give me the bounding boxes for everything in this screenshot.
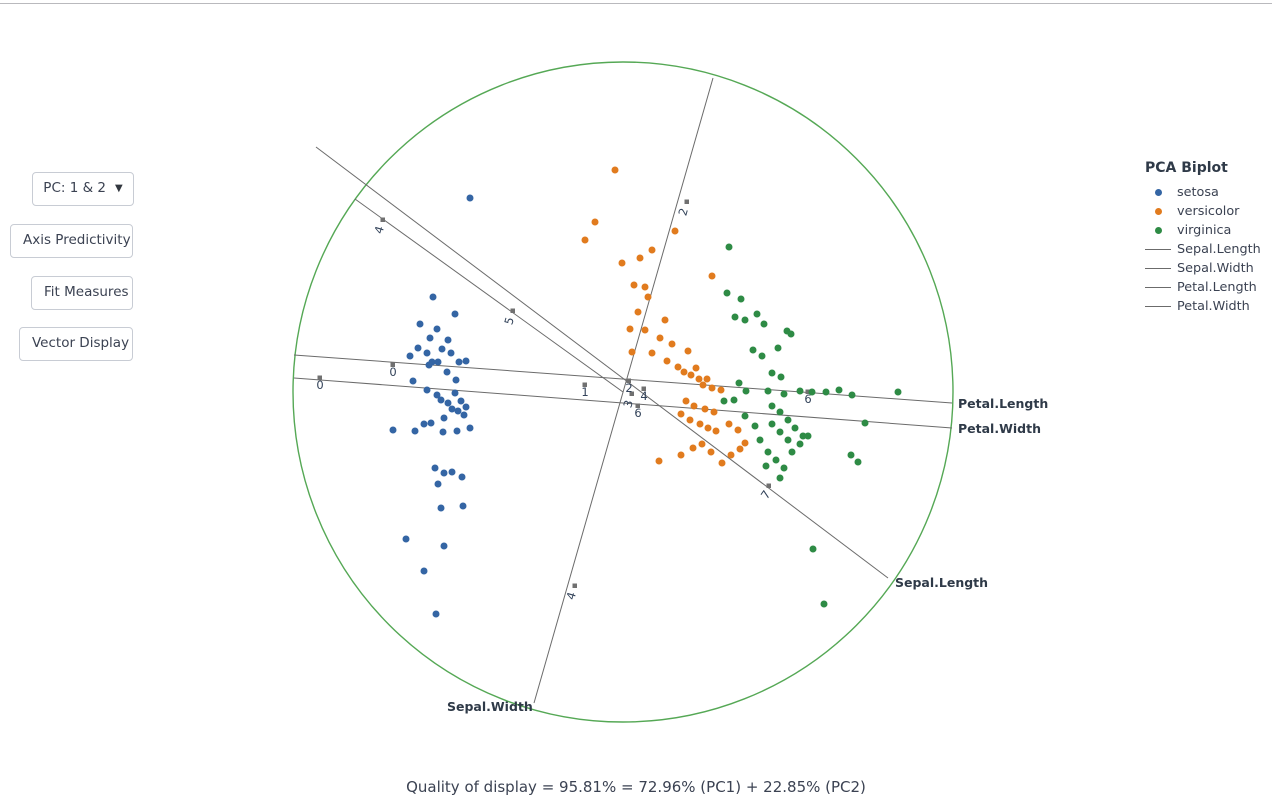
axis-tick-label: 4 [563,590,578,601]
data-point-setosa[interactable] [390,427,397,434]
points-setosa [390,195,474,618]
data-point-virginica[interactable] [785,437,792,444]
data-point-virginica[interactable] [769,403,776,410]
data-point-virginica[interactable] [848,452,855,459]
data-point-versicolor[interactable] [612,167,619,174]
legend-item-sepal-length[interactable]: Sepal.Length [1143,240,1271,259]
data-point-setosa[interactable] [407,353,414,360]
data-point-versicolor[interactable] [629,349,636,356]
data-point-versicolor[interactable] [635,309,642,316]
data-point-versicolor[interactable] [718,387,725,394]
data-point-setosa[interactable] [441,543,448,550]
data-point-versicolor[interactable] [662,317,669,324]
legend: PCA Biplot setosaversicolorvirginica Sep… [1143,160,1271,316]
data-point-versicolor[interactable] [675,364,682,371]
legend-item-label: versicolor [1177,204,1239,219]
data-point-virginica[interactable] [778,374,785,381]
data-point-setosa[interactable] [435,359,442,366]
data-point-setosa[interactable] [444,369,451,376]
data-point-setosa[interactable] [459,474,466,481]
data-point-versicolor[interactable] [693,365,700,372]
data-point-setosa[interactable] [448,350,455,357]
legend-group-entries: setosaversicolorvirginica [1143,183,1271,240]
legend-dot-swatch-icon [1143,208,1173,215]
data-point-virginica[interactable] [732,314,739,321]
data-point-setosa[interactable] [424,350,431,357]
axis-tick-label: 5 [501,315,516,326]
data-point-setosa[interactable] [458,398,465,405]
data-point-virginica[interactable] [789,449,796,456]
quality-of-display-caption: Quality of display = 95.81% = 72.96% (PC… [0,778,1272,795]
legend-item-sepal-width[interactable]: Sepal.Width [1143,259,1271,278]
data-point-versicolor[interactable] [649,350,656,357]
data-point-virginica[interactable] [742,413,749,420]
dot-marker [1155,227,1162,234]
data-point-virginica[interactable] [823,389,830,396]
biplot-axis-calibration-axis-upper-left[interactable] [355,199,623,392]
data-point-virginica[interactable] [855,459,862,466]
legend-line-swatch-icon [1143,249,1173,250]
data-point-virginica[interactable] [754,311,761,318]
data-point-virginica[interactable] [777,409,784,416]
data-point-versicolor[interactable] [700,382,707,389]
data-point-virginica[interactable] [731,397,738,404]
data-point-virginica[interactable] [788,331,795,338]
axis-tick-label: 2 [675,206,690,217]
data-point-virginica[interactable] [862,420,869,427]
data-point-setosa[interactable] [410,378,417,385]
axis-tick-marker [573,584,578,589]
data-point-versicolor[interactable] [705,425,712,432]
axis-lines-group [294,78,952,703]
legend-title: PCA Biplot [1145,160,1271,176]
data-point-setosa[interactable] [445,400,452,407]
axis-tick-label: 0 [389,365,396,379]
legend-item-label: virginica [1177,223,1231,238]
data-point-setosa[interactable] [449,469,456,476]
data-point-virginica[interactable] [821,601,828,608]
axis-tick-label: 6 [634,406,641,420]
data-point-virginica[interactable] [792,425,799,432]
legend-item-label: Petal.Width [1177,299,1250,314]
data-point-versicolor[interactable] [672,228,679,235]
legend-line-swatch-icon [1143,268,1173,269]
data-point-setosa[interactable] [434,326,441,333]
data-point-setosa[interactable] [412,428,419,435]
data-point-virginica[interactable] [761,321,768,328]
biplot-canvas[interactable]: 7234026014645 Sepal.LengthSepal.WidthPet… [0,0,1130,760]
data-point-versicolor[interactable] [637,255,644,262]
axis-tick-label: 4 [640,389,647,403]
data-point-versicolor[interactable] [699,441,706,448]
data-point-setosa[interactable] [445,337,452,344]
legend-dot-swatch-icon [1143,189,1173,196]
data-point-versicolor[interactable] [691,403,698,410]
legend-item-label: setosa [1177,185,1219,200]
data-point-versicolor[interactable] [582,237,589,244]
biplot-axis-sepal-width[interactable] [534,78,713,703]
legend-item-setosa[interactable]: setosa [1143,183,1271,202]
data-point-setosa[interactable] [441,470,448,477]
data-point-virginica[interactable] [752,423,759,430]
data-point-virginica[interactable] [781,465,788,472]
data-point-setosa[interactable] [417,321,424,328]
data-point-setosa[interactable] [454,428,461,435]
variable-label-petal-width[interactable]: Petal.Width [958,421,1041,436]
data-point-setosa[interactable] [427,335,434,342]
axis-tick-label: 2 [625,381,632,395]
data-point-setosa[interactable] [460,503,467,510]
legend-line-swatch-icon [1143,287,1173,288]
data-point-versicolor[interactable] [690,445,697,452]
data-point-versicolor[interactable] [631,282,638,289]
data-point-setosa[interactable] [461,412,468,419]
data-point-versicolor[interactable] [642,284,649,291]
data-point-setosa[interactable] [428,420,435,427]
data-point-virginica[interactable] [726,244,733,251]
data-point-setosa[interactable] [441,415,448,422]
data-point-virginica[interactable] [759,353,766,360]
legend-item-petal-width[interactable]: Petal.Width [1143,297,1271,316]
data-point-versicolor[interactable] [704,376,711,383]
legend-item-label: Sepal.Width [1177,261,1254,276]
line-marker [1145,287,1171,288]
data-point-setosa[interactable] [467,425,474,432]
legend-item-petal-length[interactable]: Petal.Length [1143,278,1271,297]
data-point-versicolor[interactable] [688,372,695,379]
data-point-virginica[interactable] [763,463,770,470]
legend-line-swatch-icon [1143,306,1173,307]
axis-tick-label: 1 [581,385,588,399]
data-point-versicolor[interactable] [669,341,676,348]
data-point-versicolor[interactable] [627,326,634,333]
data-point-virginica[interactable] [809,389,816,396]
biplot-svg: 7234026014645 Sepal.LengthSepal.WidthPet… [0,0,1130,760]
data-point-setosa[interactable] [430,294,437,301]
data-point-setosa[interactable] [440,429,447,436]
data-point-versicolor[interactable] [619,260,626,267]
data-point-versicolor[interactable] [678,452,685,459]
data-point-setosa[interactable] [467,195,474,202]
data-point-versicolor[interactable] [709,273,716,280]
data-point-versicolor[interactable] [708,449,715,456]
data-point-setosa[interactable] [403,536,410,543]
legend-item-label: Petal.Length [1177,280,1257,295]
data-point-versicolor[interactable] [702,406,709,413]
data-point-virginica[interactable] [777,429,784,436]
data-point-virginica[interactable] [765,388,772,395]
data-point-versicolor[interactable] [592,219,599,226]
line-marker [1145,306,1171,307]
dot-marker [1155,189,1162,196]
points-versicolor [582,167,749,467]
data-point-virginica[interactable] [736,380,743,387]
data-point-virginica[interactable] [769,370,776,377]
line-marker [1145,249,1171,250]
data-point-setosa[interactable] [433,611,440,618]
axis-tick-label: 0 [316,378,323,392]
data-point-setosa[interactable] [452,311,459,318]
data-point-versicolor[interactable] [685,348,692,355]
legend-dot-swatch-icon [1143,227,1173,234]
legend-item-virginica[interactable]: virginica [1143,221,1271,240]
data-point-setosa[interactable] [424,387,431,394]
data-point-versicolor[interactable] [719,460,726,467]
data-point-setosa[interactable] [456,359,463,366]
data-point-versicolor[interactable] [687,417,694,424]
data-point-setosa[interactable] [455,408,462,415]
data-point-setosa[interactable] [452,390,459,397]
data-point-versicolor[interactable] [709,385,716,392]
axis-tick-label: 4 [371,224,386,235]
data-point-virginica[interactable] [724,290,731,297]
points-virginica [721,244,902,608]
variable-label-sepal-length[interactable]: Sepal.Length [895,575,988,590]
data-point-virginica[interactable] [797,388,804,395]
line-marker [1145,268,1171,269]
data-point-virginica[interactable] [750,347,757,354]
legend-item-versicolor[interactable]: versicolor [1143,202,1271,221]
legend-variable-entries: Sepal.LengthSepal.WidthPetal.LengthPetal… [1143,240,1271,316]
legend-item-label: Sepal.Length [1177,242,1261,257]
data-point-versicolor[interactable] [713,428,720,435]
data-point-virginica[interactable] [805,433,812,440]
data-point-virginica[interactable] [773,457,780,464]
data-point-virginica[interactable] [810,546,817,553]
data-point-virginica[interactable] [836,387,843,394]
data-point-versicolor[interactable] [742,440,749,447]
data-point-virginica[interactable] [769,421,776,428]
data-point-versicolor[interactable] [737,446,744,453]
data-point-setosa[interactable] [435,481,442,488]
data-point-versicolor[interactable] [683,398,690,405]
data-point-virginica[interactable] [777,475,784,482]
data-point-versicolor[interactable] [696,376,703,383]
data-point-versicolor[interactable] [735,427,742,434]
axis-tick-marker [685,200,690,205]
data-point-virginica[interactable] [742,317,749,324]
axis-tick-marker [381,218,386,223]
data-point-virginica[interactable] [757,437,764,444]
data-point-virginica[interactable] [738,296,745,303]
data-point-versicolor[interactable] [656,458,663,465]
data-point-versicolor[interactable] [697,421,704,428]
data-point-versicolor[interactable] [642,327,649,334]
data-point-versicolor[interactable] [664,358,671,365]
data-point-setosa[interactable] [415,345,422,352]
data-point-versicolor[interactable] [649,247,656,254]
data-point-versicolor[interactable] [678,411,685,418]
data-point-versicolor[interactable] [728,452,735,459]
data-point-setosa[interactable] [449,406,456,413]
data-point-virginica[interactable] [781,391,788,398]
data-point-virginica[interactable] [785,417,792,424]
variable-label-petal-length[interactable]: Petal.Length [958,396,1048,411]
data-point-setosa[interactable] [432,465,439,472]
data-point-versicolor[interactable] [726,421,733,428]
data-point-versicolor[interactable] [657,335,664,342]
pca-biplot-app: PC: 1 & 2 ▼ Axis Predictivity Fit Measur… [0,0,1272,795]
data-point-setosa[interactable] [463,358,470,365]
data-point-virginica[interactable] [721,398,728,405]
data-point-versicolor[interactable] [645,294,652,301]
data-point-setosa[interactable] [438,397,445,404]
data-point-setosa[interactable] [453,377,460,384]
data-point-setosa[interactable] [439,346,446,353]
data-point-setosa[interactable] [421,568,428,575]
data-point-virginica[interactable] [743,388,750,395]
data-point-virginica[interactable] [849,392,856,399]
data-point-versicolor[interactable] [681,369,688,376]
data-point-virginica[interactable] [797,441,804,448]
data-point-versicolor[interactable] [711,409,718,416]
data-point-setosa[interactable] [438,505,445,512]
axis-tick-marker [767,484,772,489]
data-point-virginica[interactable] [765,449,772,456]
data-point-setosa[interactable] [421,421,428,428]
axis-tick-marker [511,309,516,314]
dot-marker [1155,208,1162,215]
data-point-setosa[interactable] [463,404,470,411]
data-point-setosa[interactable] [426,362,433,369]
data-point-virginica[interactable] [895,389,902,396]
variable-label-sepal-width[interactable]: Sepal.Width [447,699,533,714]
data-point-virginica[interactable] [775,345,782,352]
